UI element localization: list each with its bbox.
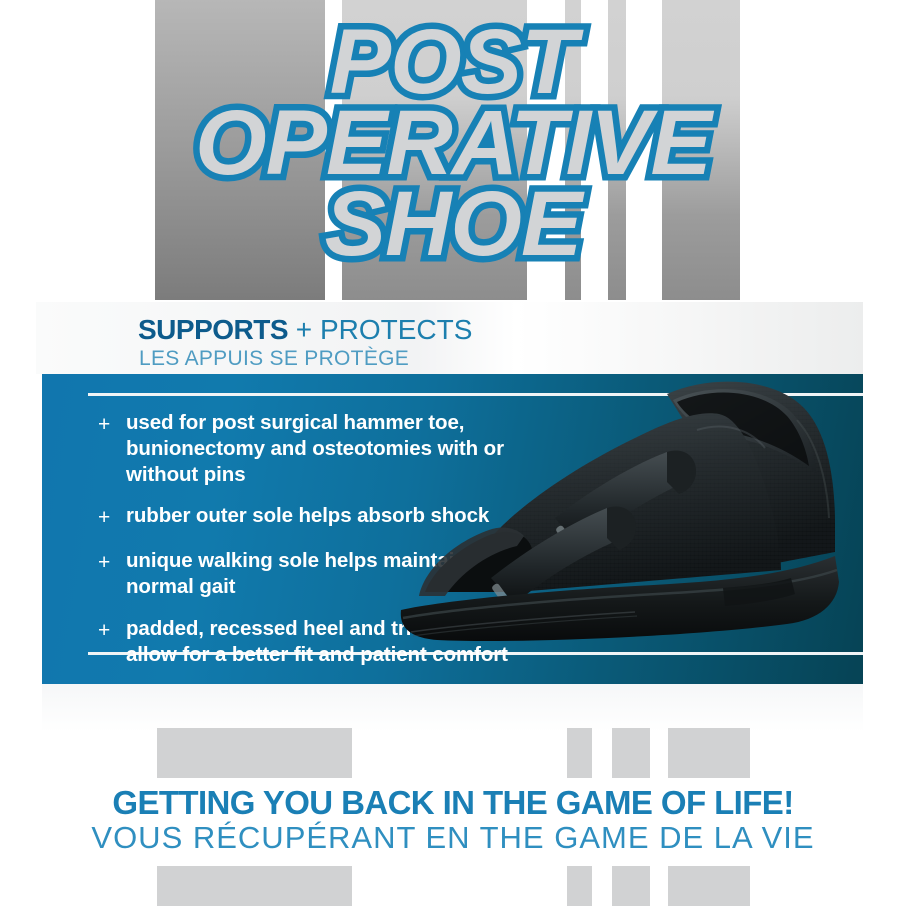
plus-icon: +	[98, 548, 126, 577]
title-line-shoe: SHOE	[0, 184, 906, 265]
footer-light-band	[42, 684, 863, 732]
latex-free-note: * latex-free	[714, 603, 799, 623]
background-stripe-footer-1	[157, 866, 352, 906]
background-stripe-footer-4	[668, 866, 750, 906]
header-headline-bold: SUPPORTS	[138, 314, 288, 345]
panel-divider-top	[88, 393, 863, 396]
background-stripe-footer-3	[612, 866, 650, 906]
list-item: + rubber outer sole helps absorb shock	[98, 503, 528, 532]
background-stripe-footer-2	[567, 866, 592, 906]
header-headline-light: + PROTECTS	[288, 314, 472, 345]
plus-icon: +	[98, 503, 126, 532]
header-band: SUPPORTS + PROTECTS LES APPUIS SE PROTÈG…	[36, 302, 863, 374]
features-panel: + used for post surgical hammer toe, bun…	[42, 374, 863, 684]
tagline-english: GETTING YOU BACK IN THE GAME OF LIFE!	[0, 784, 906, 822]
post-operative-shoe-poster: POST OPERATIVE SHOE SUPPORTS + PROTECTS …	[0, 0, 906, 906]
title-line-operative: OPERATIVE	[0, 103, 906, 184]
tagline-french: VOUS RÉCUPÉRANT EN THE GAME DE LA VIE	[0, 820, 906, 856]
list-item: + used for post surgical hammer toe, bun…	[98, 410, 528, 487]
background-stripe-bottom-2	[567, 728, 592, 778]
header-headline: SUPPORTS + PROTECTS	[138, 314, 472, 346]
list-item-label: padded, recessed heel and tricot lining …	[126, 616, 528, 668]
plus-icon: +	[98, 410, 126, 439]
title-line-post: POST	[0, 22, 906, 103]
background-stripe-bottom-3	[612, 728, 650, 778]
list-item-label: used for post surgical hammer toe, bunio…	[126, 410, 528, 487]
list-item-label: rubber outer sole helps absorb shock	[126, 503, 528, 529]
feature-list: + used for post surgical hammer toe, bun…	[98, 410, 528, 684]
page-title: POST OPERATIVE SHOE	[0, 22, 906, 265]
background-stripe-bottom-4	[668, 728, 750, 778]
list-item: + padded, recessed heel and tricot linin…	[98, 616, 528, 668]
header-subtitle-french: LES APPUIS SE PROTÈGE	[139, 347, 409, 371]
list-item: + unique walking sole helps maintain nor…	[98, 548, 528, 600]
background-stripe-bottom-1	[157, 728, 352, 778]
plus-icon: +	[98, 616, 126, 645]
list-item-label: unique walking sole helps maintain norma…	[126, 548, 528, 600]
